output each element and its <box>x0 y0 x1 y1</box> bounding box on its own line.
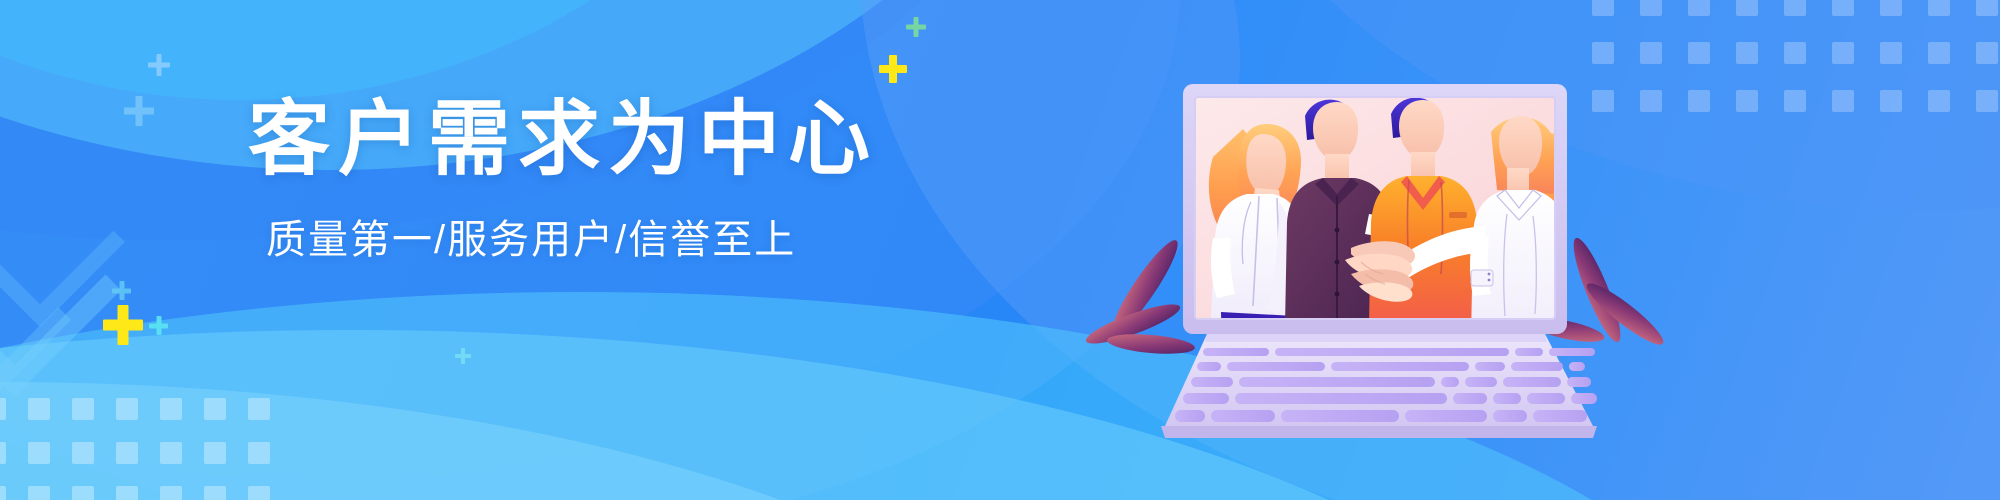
leaf-cluster-left <box>1083 234 1196 356</box>
banner-text-block: 客户需求为中心 质量第一/服务用户/信誉至上 <box>248 96 868 265</box>
banner-subtitle: 质量第一/服务用户/信誉至上 <box>266 207 868 265</box>
plus-icon-cyan-lower <box>149 316 168 335</box>
laptop-base-edge <box>1161 426 1597 438</box>
laptop-team-handstack-illustration <box>1155 62 1625 444</box>
banner-headline: 客户需求为中心 <box>248 96 868 185</box>
square-grid-bottomleft <box>0 398 279 500</box>
plus-icon-cyan-right <box>455 348 471 364</box>
square-grid-topright <box>1592 0 2000 124</box>
plus-icon-white-small <box>148 54 170 76</box>
plus-icon-green-small <box>906 17 926 37</box>
plus-icon-yellow-large <box>103 305 143 345</box>
bg-wave-cyan-inner <box>0 0 840 100</box>
plus-icon-yellow-small <box>879 55 907 83</box>
plus-icon-white-large <box>124 96 154 126</box>
bg-wave-bottom-3 <box>0 382 1100 500</box>
promo-banner: 客户需求为中心 质量第一/服务用户/信誉至上 <box>0 0 2000 500</box>
